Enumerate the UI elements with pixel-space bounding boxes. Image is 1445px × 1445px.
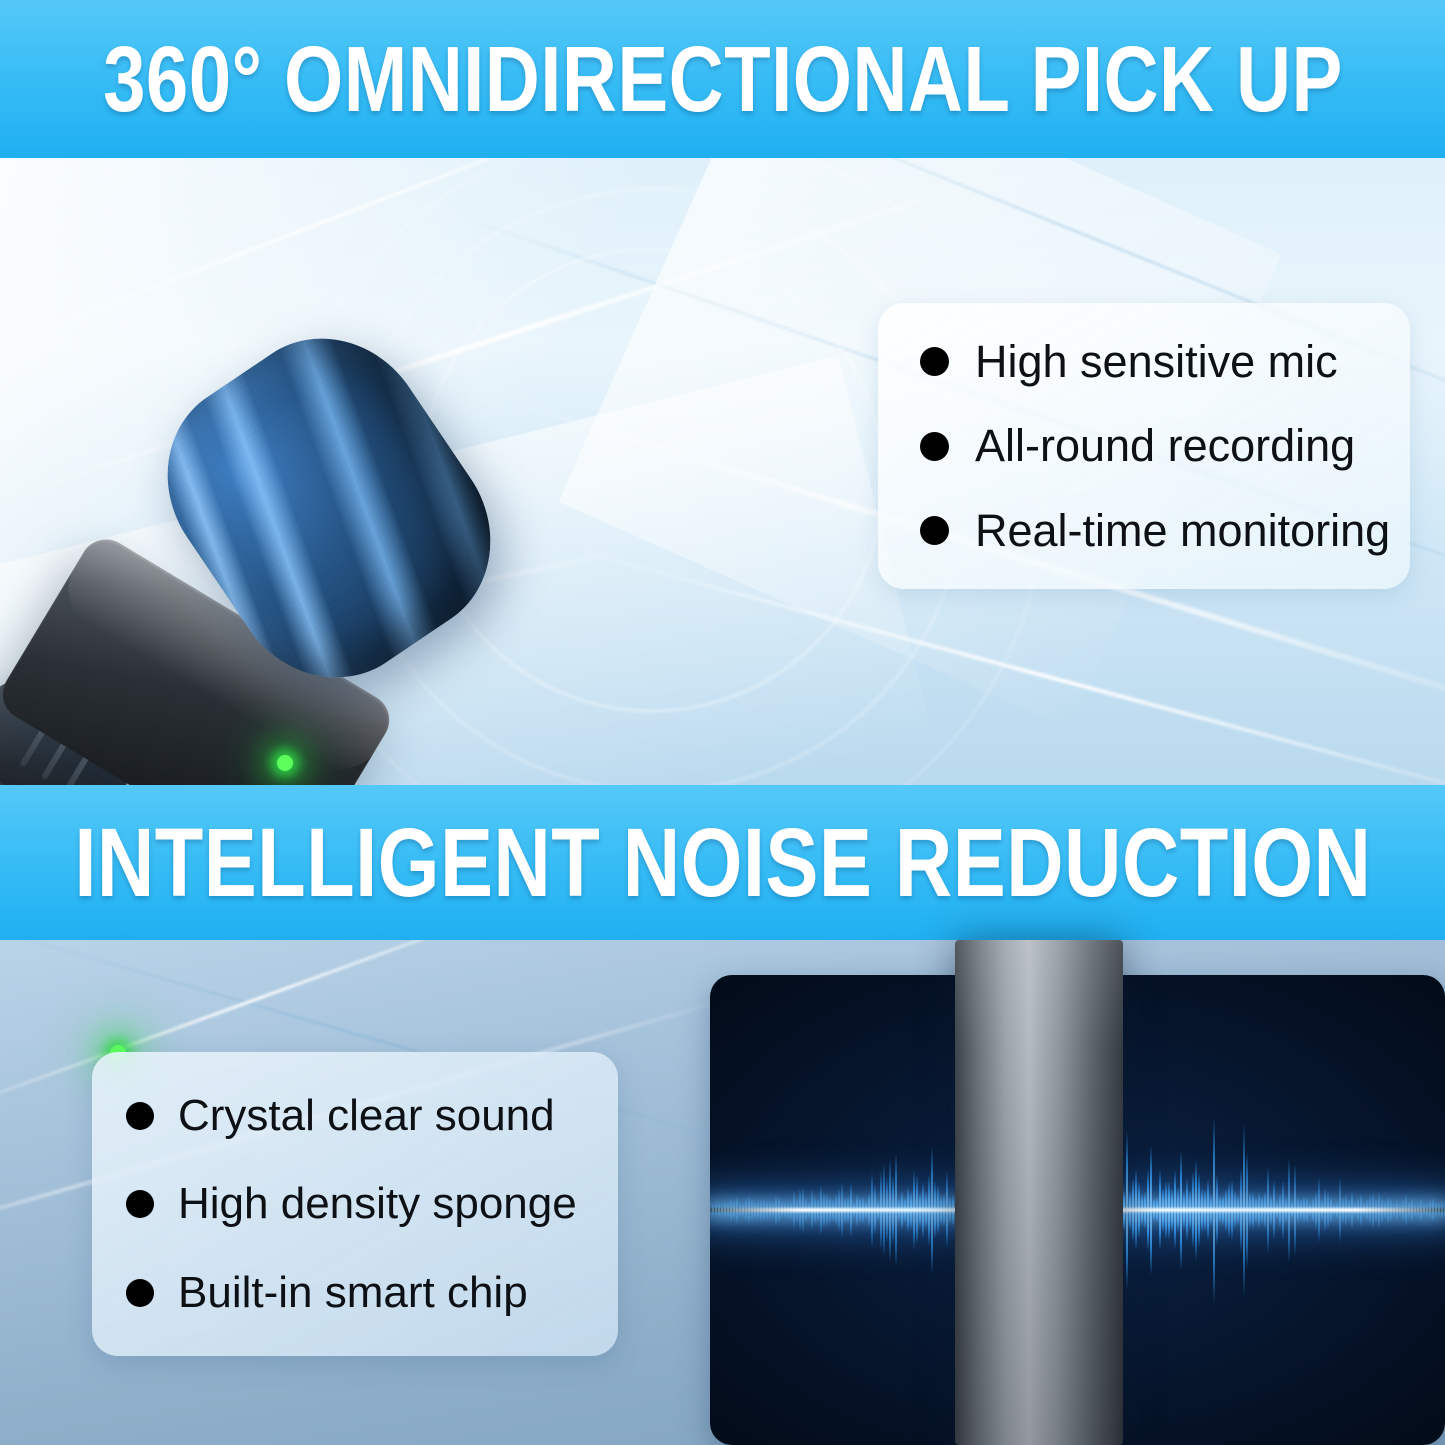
- list-item: All-round recording: [878, 420, 1410, 472]
- microphone-body: [955, 940, 1123, 1445]
- list-item: High density sponge: [92, 1179, 618, 1229]
- feature-label: Built-in smart chip: [178, 1268, 528, 1318]
- feature-label: High sensitive mic: [975, 336, 1338, 388]
- list-item: Built-in smart chip: [92, 1268, 618, 1318]
- feature-list-panel-bottom: Crystal clear sound High density sponge …: [92, 1052, 618, 1356]
- bullet-icon: [920, 432, 949, 461]
- list-item: High sensitive mic: [878, 336, 1410, 388]
- list-item: Real-time monitoring: [878, 505, 1410, 557]
- feature-list-top: High sensitive mic All-round recording R…: [878, 303, 1410, 589]
- bullet-icon: [920, 516, 949, 545]
- lavalier-microphone-top: [0, 338, 600, 785]
- banner-omnidirectional-pickup: 360° OMNIDIRECTIONAL PICK UP: [0, 0, 1445, 158]
- feature-label: All-round recording: [975, 420, 1355, 472]
- bullet-icon: [126, 1190, 154, 1218]
- banner-noise-reduction-text: INTELLIGENT NOISE REDUCTION: [74, 807, 1371, 919]
- product-feature-collage: 360° OMNIDIRECTIONAL PICK UP: [0, 0, 1445, 1445]
- banner-noise-reduction: INTELLIGENT NOISE REDUCTION: [0, 785, 1445, 940]
- bullet-icon: [920, 347, 949, 376]
- bullet-icon: [126, 1279, 154, 1307]
- feature-list-bottom: Crystal clear sound High density sponge …: [92, 1052, 618, 1356]
- green-led-indicator: [277, 755, 293, 771]
- feature-list-panel-top: High sensitive mic All-round recording R…: [878, 303, 1410, 589]
- feature-label: Real-time monitoring: [975, 505, 1390, 557]
- list-item: Crystal clear sound: [92, 1091, 618, 1141]
- feature-label: Crystal clear sound: [178, 1091, 555, 1141]
- lavalier-microphone-bottom: [935, 940, 1140, 1445]
- feature-label: High density sponge: [178, 1179, 577, 1229]
- bullet-icon: [126, 1102, 154, 1130]
- banner-omnidirectional-pickup-text: 360° OMNIDIRECTIONAL PICK UP: [103, 26, 1343, 133]
